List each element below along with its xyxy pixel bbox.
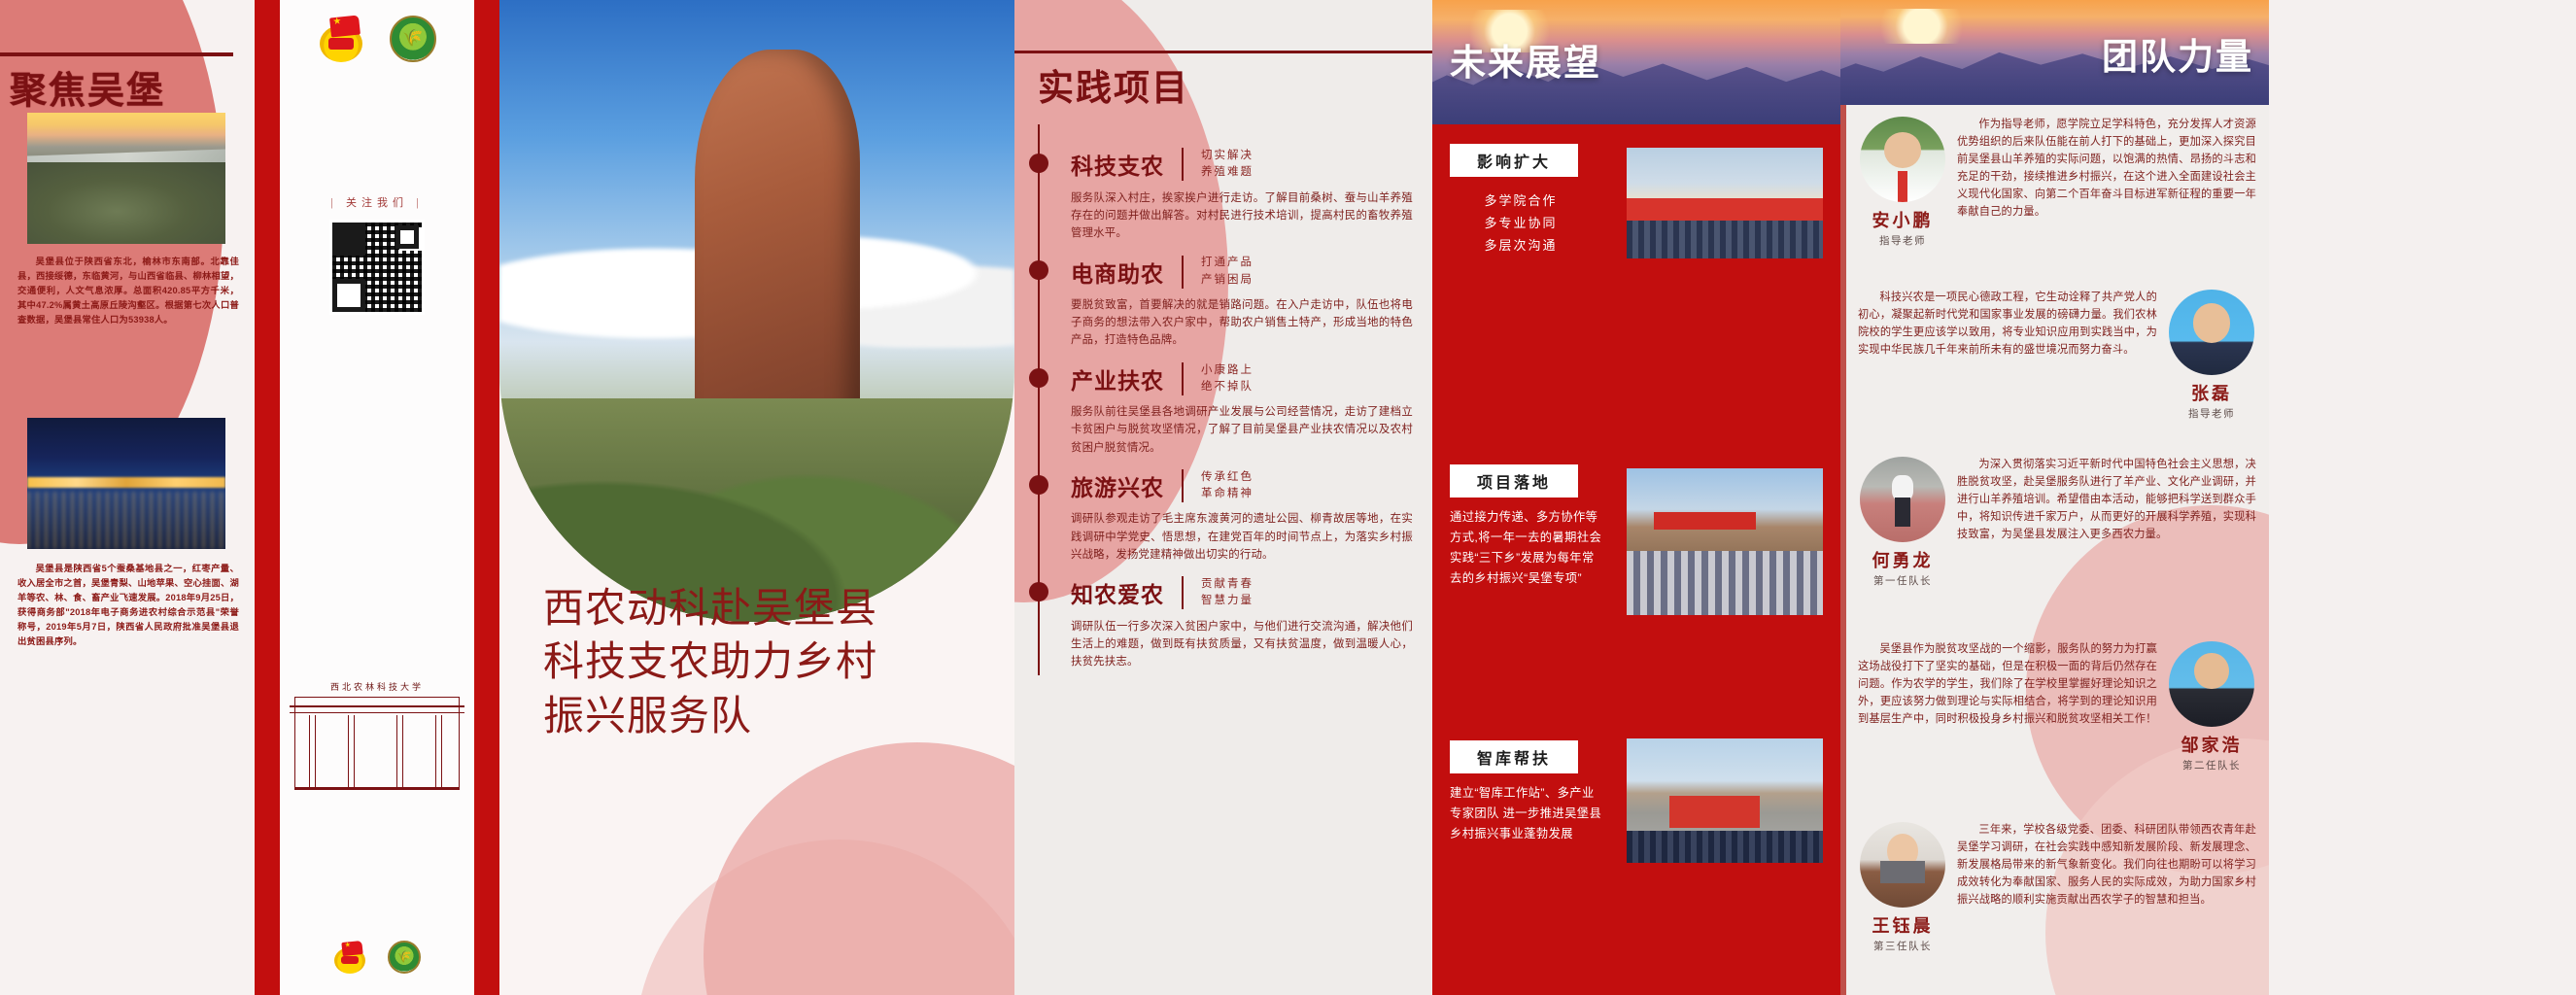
future-block-text: 建立“智库工作站”、多产业专家团队 进一步推进吴堡县乡村振兴事业蓬勃发展 [1450, 783, 1605, 844]
divider [1182, 256, 1184, 289]
project-name: 知农爱农 [1071, 576, 1164, 609]
panel-practice-projects: 实践项目 科技支农 切实解决 养殖难题 服务队深入村庄，挨家挨户进行走访。了解目… [1014, 0, 1432, 995]
project-tag-line-1: 贡献青春 [1201, 576, 1254, 593]
future-block-text: 通过接力传递、多方协作等方式,将一年一去的暑期社会实践“三下乡”发展为每年常去的… [1450, 507, 1605, 590]
member-name: 安小鹏 [1858, 207, 1947, 232]
timeline-dot-icon [1029, 475, 1048, 495]
panel-rule [0, 52, 233, 56]
follow-us-label-row: | 关注我们 | [280, 194, 474, 210]
main-title-line-1: 西农动科赴吴堡县 [543, 583, 877, 636]
project-tag-line-2: 产销困局 [1201, 272, 1254, 289]
panel-follow-us: | 关注我们 | 西北农林科技大学 [255, 0, 499, 995]
projects-timeline: 科技支农 切实解决 养殖难题 服务队深入村庄，挨家挨户进行走访。了解目前桑树、蚕… [1038, 148, 1419, 683]
project-tag-line-2: 智慧力量 [1201, 593, 1254, 609]
member-role: 第一任队长 [1858, 573, 1947, 588]
panel-focus-title: 聚焦吴堡 [10, 60, 165, 114]
university-gate-illustration: 西北农林科技大学 [280, 680, 474, 806]
panel-team-title: 团队力量 [2102, 27, 2253, 80]
member-name: 邹家浩 [2167, 732, 2256, 757]
communist-youth-league-badge-icon-small [333, 941, 366, 974]
project-tag-line-1: 切实解决 [1201, 148, 1254, 164]
panel-future-outlook: 未来展望 影响扩大 多学院合作 多专业协同 多层次沟通 项目落地 通过接力传递、… [1432, 0, 1840, 995]
member-statement: 三年来，学校各级党委、团委、科研团队带领西农青年赴吴堡学习调研，在社会实践中感知… [1957, 822, 2256, 953]
project-tag-line-2: 绝不掉队 [1201, 379, 1254, 395]
future-list-item: 多专业协同 [1450, 213, 1592, 235]
project-name: 产业扶农 [1071, 362, 1164, 395]
team-banner: 团队力量 [1840, 0, 2269, 105]
main-title-line-2: 科技支农助力乡村 [543, 636, 877, 690]
gate-drawing [294, 697, 460, 790]
project-item: 科技支农 切实解决 养殖难题 服务队深入村庄，挨家挨户进行走访。了解目前桑树、蚕… [1038, 148, 1419, 242]
panel-future-title: 未来展望 [1450, 33, 1601, 86]
project-body: 调研队参观走访了毛主席东渡黄河的遗址公园、柳青故居等地，在实践调研中学党史、悟思… [1071, 510, 1419, 564]
project-tag: 传承红色 革命精神 [1201, 469, 1254, 503]
member-photo-block: 张磊 指导老师 [2167, 290, 2256, 421]
project-tag: 小康路上 绝不掉队 [1201, 362, 1254, 396]
future-block-list: 多学院合作 多专业协同 多层次沟通 [1450, 190, 1592, 257]
timeline-dot-icon [1029, 154, 1048, 173]
member-name: 张磊 [2167, 380, 2256, 405]
project-tag: 切实解决 养殖难题 [1201, 148, 1254, 182]
future-block-tag: 项目落地 [1450, 464, 1578, 497]
project-tag: 贡献青春 智慧力量 [1201, 576, 1254, 610]
future-banner: 未来展望 [1432, 0, 1840, 124]
member-name: 何勇龙 [1858, 547, 1947, 572]
project-name: 电商助农 [1071, 256, 1164, 289]
wechat-qr-code[interactable] [329, 220, 425, 315]
panel-projects-title: 实践项目 [1038, 58, 1189, 111]
yellow-river-night-view-photo [27, 418, 225, 549]
university-gate-team-photo [1625, 737, 1825, 865]
follow-us-label: 关注我们 [346, 197, 408, 209]
project-item: 知农爱农 贡献青春 智慧力量 调研队伍一行多次深入贫困户家中，与他们进行交流沟通… [1038, 576, 1419, 670]
future-block-tag: 影响扩大 [1450, 144, 1578, 177]
member-role: 第二任队长 [2167, 758, 2256, 772]
project-tag-line-1: 传承红色 [1201, 469, 1254, 486]
project-tag-line-2: 养殖难题 [1201, 164, 1254, 181]
timeline-dot-icon [1029, 368, 1048, 388]
project-tag-line-2: 革命精神 [1201, 486, 1254, 502]
member-photo-block: 何勇龙 第一任队长 [1858, 457, 1947, 588]
panel-team-strength: 团队力量 安小鹏 指导老师 作为指导老师，愿学院立足学科特色，充分发挥人才资源优… [1840, 0, 2269, 995]
communist-youth-league-badge-icon [318, 16, 364, 62]
logo-row-bottom [280, 941, 474, 974]
project-body: 服务队深入村庄，挨家挨户进行走访。了解目前桑树、蚕与山羊养殖存在的问题并做出解答… [1071, 189, 1419, 243]
focus-paragraph-2: 吴堡县是陕西省5个蚕桑基地县之一，红枣产量、收入居全市之首，吴堡青梨、山地苹果、… [17, 562, 239, 649]
timeline-dot-icon [1029, 582, 1048, 601]
member-photo-block: 王钰晨 第三任队长 [1858, 822, 1947, 953]
northwest-a-and-f-university-badge-icon-small [388, 941, 421, 974]
project-name: 旅游兴农 [1071, 469, 1164, 502]
project-tag-line-1: 打通产品 [1201, 255, 1254, 271]
member-statement: 作为指导老师，愿学院立足学科特色，充分发挥人才资源优势组织的后来队伍能在前人打下… [1957, 117, 2256, 248]
logo-row-top [280, 16, 474, 62]
member-name: 王钰晨 [1858, 912, 1947, 938]
team-member: 邹家浩 第二任队长 吴堡县作为脱贫攻坚战的一个缩影，服务队的努力为打赢这场战役打… [1858, 641, 2256, 772]
project-body: 服务队前往吴堡县各地调研产业发展与公司经营情况，走访了建档立卡贫困户与脱贫攻坚情… [1071, 403, 1419, 457]
team-member: 王钰晨 第三任队长 三年来，学校各级党委、团委、科研团队带领西农青年赴吴堡学习调… [1858, 822, 2256, 953]
project-item: 产业扶农 小康路上 绝不掉队 服务队前往吴堡县各地调研产业发展与公司经营情况，走… [1038, 362, 1419, 457]
project-tag: 打通产品 产销困局 [1201, 255, 1254, 289]
bar-right-icon: | [416, 197, 424, 209]
portrait-zhang-lei [2169, 290, 2254, 375]
member-photo-block: 安小鹏 指导老师 [1858, 117, 1947, 248]
portrait-an-xiaopeng [1860, 117, 1945, 202]
project-name: 科技支农 [1071, 148, 1164, 181]
divider [1182, 576, 1184, 609]
member-role: 指导老师 [2167, 406, 2256, 421]
panel-focus-wubu: 聚焦吴堡 吴堡县位于陕西省东北，榆林市东南部。北靠佳县，西接绥德，东临黄河，与山… [0, 0, 255, 995]
divider [1182, 469, 1184, 502]
timeline-dot-icon [1029, 260, 1048, 280]
team-member: 何勇龙 第一任队长 为深入贯彻落实习近平新时代中国特色社会主义思想，决胜脱贫攻坚… [1858, 457, 2256, 588]
team-member: 安小鹏 指导老师 作为指导老师，愿学院立足学科特色，充分发挥人才资源优势组织的后… [1858, 117, 2256, 248]
panel-rule [1014, 51, 1432, 53]
wubu-loess-landscape-photo [499, 0, 1014, 622]
main-title-line-3: 振兴服务队 [543, 691, 877, 744]
future-list-item: 多层次沟通 [1450, 235, 1592, 257]
member-role: 第三任队长 [1858, 939, 1947, 953]
team-member: 张磊 指导老师 科技兴农是一项民心德政工程，它生动诠释了共产党人的初心，凝聚起新… [1858, 290, 2256, 421]
portrait-zou-jiahao [2169, 641, 2254, 727]
portrait-wang-yuchen [1860, 822, 1945, 908]
focus-paragraph-1: 吴堡县位于陕西省东北，榆林市东南部。北靠佳县，西接绥德，东临黄河，与山西省临县、… [17, 255, 239, 327]
poster-board: 聚焦吴堡 吴堡县位于陕西省东北，榆林市东南部。北靠佳县，西接绥德，东临黄河，与山… [0, 0, 2576, 995]
side-accent-bar [1840, 105, 1846, 995]
member-statement: 科技兴农是一项民心德政工程，它生动诠释了共产党人的初心，凝聚起新时代党和国家事业… [1858, 290, 2157, 421]
member-statement: 吴堡县作为脱贫攻坚战的一个缩影，服务队的努力为打赢这场战役打下了坚实的基础，但是… [1858, 641, 2157, 772]
follow-card [280, 0, 474, 995]
wubu-ancient-town-aerial-photo [27, 113, 225, 244]
project-item: 电商助农 打通产品 产销困局 要脱贫致富，首要解决的就是销路问题。在入户走访中，… [1038, 255, 1419, 349]
future-block-tag: 智库帮扶 [1450, 740, 1578, 773]
village-square-group-photo [1625, 146, 1825, 260]
member-photo-block: 邹家浩 第二任队长 [2167, 641, 2256, 772]
future-list-item: 多学院合作 [1450, 190, 1592, 213]
project-body: 调研队伍一行多次深入贫困户家中，与他们进行交流沟通，解决他们生活上的难题，做到既… [1071, 618, 1419, 671]
rural-technology-training-group-photo [1625, 466, 1825, 617]
main-title: 西农动科赴吴堡县 科技支农助力乡村 振兴服务队 [543, 583, 877, 744]
bar-left-icon: | [330, 197, 338, 209]
divider [1182, 148, 1184, 181]
gate-caption: 西北农林科技大学 [280, 680, 474, 693]
member-statement: 为深入贯彻落实习近平新时代中国特色社会主义思想，决胜脱贫攻坚，赴吴堡服务队进行了… [1957, 457, 2256, 588]
decorative-blob-dark [704, 742, 1014, 995]
project-body: 要脱贫致富，首要解决的就是销路问题。在入户走访中，队伍也将电子商务的想法带入农户… [1071, 296, 1419, 350]
project-tag-line-1: 小康路上 [1201, 362, 1254, 379]
northwest-a-and-f-university-badge-icon [390, 16, 436, 62]
member-role: 指导老师 [1858, 233, 1947, 248]
panel-main-title: 西农动科赴吴堡县 科技支农助力乡村 振兴服务队 [499, 0, 1014, 995]
project-item: 旅游兴农 传承红色 革命精神 调研队参观走访了毛主席东渡黄河的遗址公园、柳青故居… [1038, 469, 1419, 564]
divider [1182, 362, 1184, 395]
portrait-he-yonglong [1860, 457, 1945, 542]
